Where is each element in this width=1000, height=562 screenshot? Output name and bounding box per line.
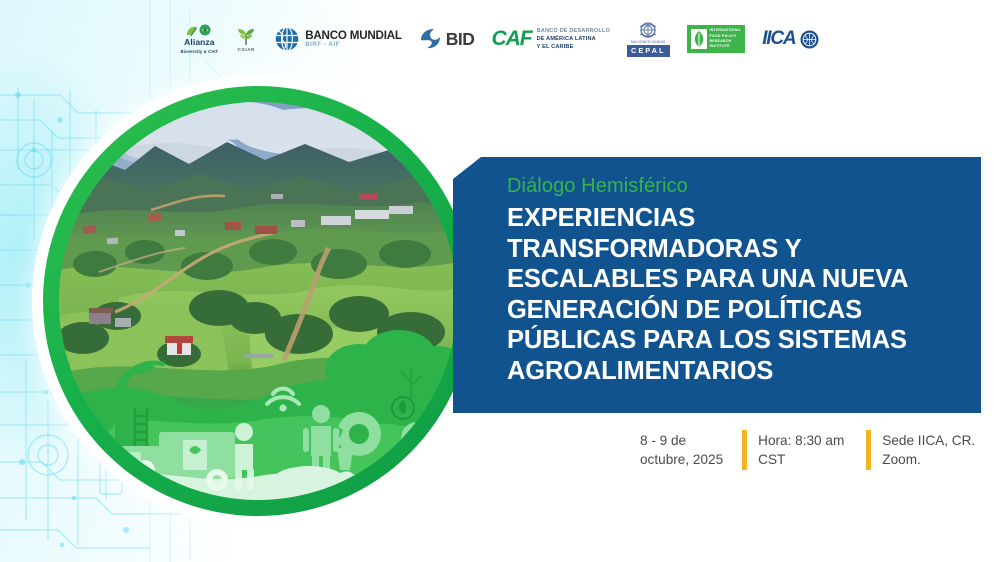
caf-logo-line3: Y EL CARIBE bbox=[537, 43, 610, 51]
event-meta-row: 8 - 9 de octubre, 2025 Hora: 8:30 am CST… bbox=[640, 430, 975, 486]
iica-globe-icon bbox=[800, 30, 819, 49]
logo-banco-mundial: BANCO MUNDIAL BIRF - AIF bbox=[274, 20, 402, 58]
banco-mundial-logo-subtitle: BIRF - AIF bbox=[305, 42, 402, 48]
logo-cgiar: CGIAR bbox=[235, 20, 257, 58]
cgiar-logo-title: CGIAR bbox=[238, 47, 255, 52]
caf-logo-line2: DE AMÉRICA LATINA bbox=[537, 35, 610, 43]
meta-time-text: Hora: 8:30 am CST bbox=[758, 430, 844, 470]
united-nations-emblem-icon bbox=[638, 22, 658, 39]
globe-icon bbox=[274, 26, 300, 52]
iica-logo-title: IICA bbox=[762, 28, 795, 50]
meta-item-time: Hora: 8:30 am CST bbox=[742, 430, 866, 470]
cepal-logo-subtitle: NACIONES UNIDAS bbox=[631, 40, 665, 44]
title-panel: Diálogo Hemisférico EXPERIENCIAS TRANSFO… bbox=[453, 157, 981, 413]
hero-photo-clip bbox=[59, 102, 457, 500]
meta-item-date: 8 - 9 de octubre, 2025 bbox=[640, 430, 742, 469]
meta-venue-text: Sede IICA, CR. Zoom. bbox=[882, 430, 975, 470]
bid-logo-title: BID bbox=[446, 29, 475, 50]
meta-divider-bar bbox=[866, 430, 871, 470]
agriculture-illustration-overlay bbox=[59, 102, 457, 500]
ifpri-leaf-icon bbox=[691, 29, 707, 49]
event-kicker: Diálogo Hemisférico bbox=[507, 175, 688, 198]
caf-logo-title: CAF bbox=[491, 27, 531, 51]
meta-date-text: 8 - 9 de octubre, 2025 bbox=[640, 430, 723, 469]
logo-bid: BID bbox=[419, 20, 475, 58]
cepal-logo-title: CEPAL bbox=[627, 45, 670, 57]
hero-photo-circle bbox=[43, 86, 473, 516]
meta-item-venue: Sede IICA, CR. Zoom. bbox=[866, 430, 975, 470]
banco-mundial-logo-title: BANCO MUNDIAL bbox=[305, 30, 402, 42]
event-banner: Alianza Bioversity & CIAT CGIAR bbox=[0, 0, 1000, 562]
logo-caf: CAF BANCO DE DESARROLLO DE AMÉRICA LATIN… bbox=[491, 20, 610, 58]
logo-alianza-bioversity-ciat: Alianza Bioversity & CIAT bbox=[181, 20, 219, 58]
logo-iica: IICA bbox=[762, 20, 819, 58]
logo-cepal: NACIONES UNIDAS CEPAL bbox=[627, 20, 670, 58]
alianza-leaf-icon bbox=[184, 24, 214, 37]
bid-wave-icon bbox=[419, 28, 441, 50]
partner-logo-strip: Alianza Bioversity & CIAT CGIAR bbox=[0, 18, 1000, 60]
logo-ifpri: INTERNATIONAL FOOD POLICY RESEARCH INSTI… bbox=[687, 20, 746, 58]
cgiar-plant-icon bbox=[235, 26, 257, 46]
meta-divider-bar bbox=[742, 430, 747, 470]
event-headline: EXPERIENCIAS TRANSFORMADORAS Y ESCALABLE… bbox=[507, 203, 973, 386]
alianza-logo-subtitle: Bioversity & CIAT bbox=[181, 49, 219, 54]
ifpri-logo-line1: INTERNATIONAL bbox=[710, 28, 742, 33]
alianza-logo-title: Alianza bbox=[184, 37, 214, 47]
caf-logo-line1: BANCO DE DESARROLLO bbox=[537, 27, 610, 35]
ifpri-logo-line4: INSTITUTE bbox=[710, 44, 742, 49]
